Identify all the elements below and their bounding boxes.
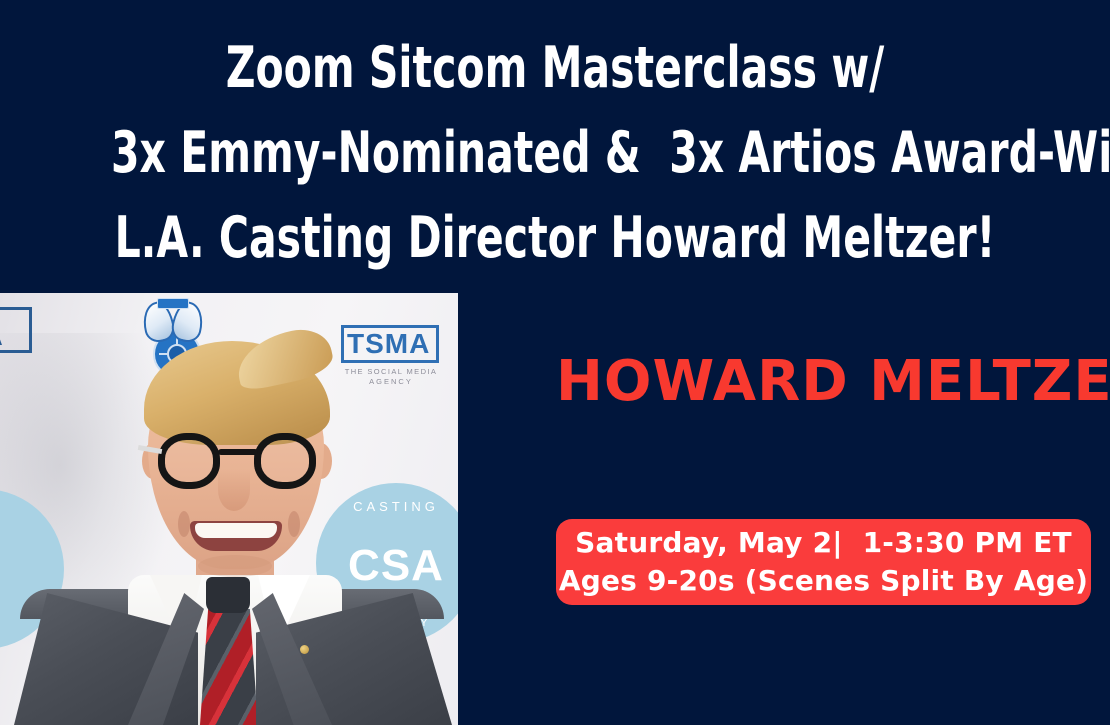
- eyeglass-lens-right: [254, 433, 316, 489]
- eyeglass-bridge: [218, 449, 258, 455]
- striped-necktie: [200, 609, 258, 725]
- chin-highlight: [198, 555, 272, 577]
- presenter-figure: [0, 293, 458, 725]
- mouth: [190, 521, 282, 551]
- eyeglass-lens-left: [158, 433, 220, 489]
- presenter-name: HOWARD MELTZER: [556, 352, 1096, 412]
- necktie-knot: [206, 577, 250, 613]
- promo-poster: Zoom Sitcom Masterclass w/ 3x Emmy-Nomin…: [0, 0, 1110, 725]
- presenter-photo: DIA TSMA THE SOCIAL MEDIA AGENCY G Y CAS…: [0, 293, 458, 725]
- headline-block: Zoom Sitcom Masterclass w/ 3x Emmy-Nomin…: [0, 26, 1110, 281]
- teeth: [195, 523, 277, 538]
- lapel-pin-icon: [300, 645, 309, 654]
- event-datetime-label: Saturday, May 2| 1-3:30 PM ET: [575, 524, 1072, 562]
- smile-line-left: [178, 511, 190, 537]
- headline-line-3: L.A. Casting Director Howard Meltzer!: [111, 196, 999, 281]
- event-ages-label: Ages 9-20s (Scenes Split By Age): [559, 562, 1088, 600]
- headline-line-2: 3x Emmy-Nominated & 3x Artios Award-Winn…: [111, 111, 999, 196]
- event-details-badge: Saturday, May 2| 1-3:30 PM ET Ages 9-20s…: [556, 519, 1091, 605]
- eyeglasses-icon: [158, 433, 318, 489]
- headline-line-1: Zoom Sitcom Masterclass w/: [111, 26, 999, 111]
- smile-line-right: [288, 511, 300, 537]
